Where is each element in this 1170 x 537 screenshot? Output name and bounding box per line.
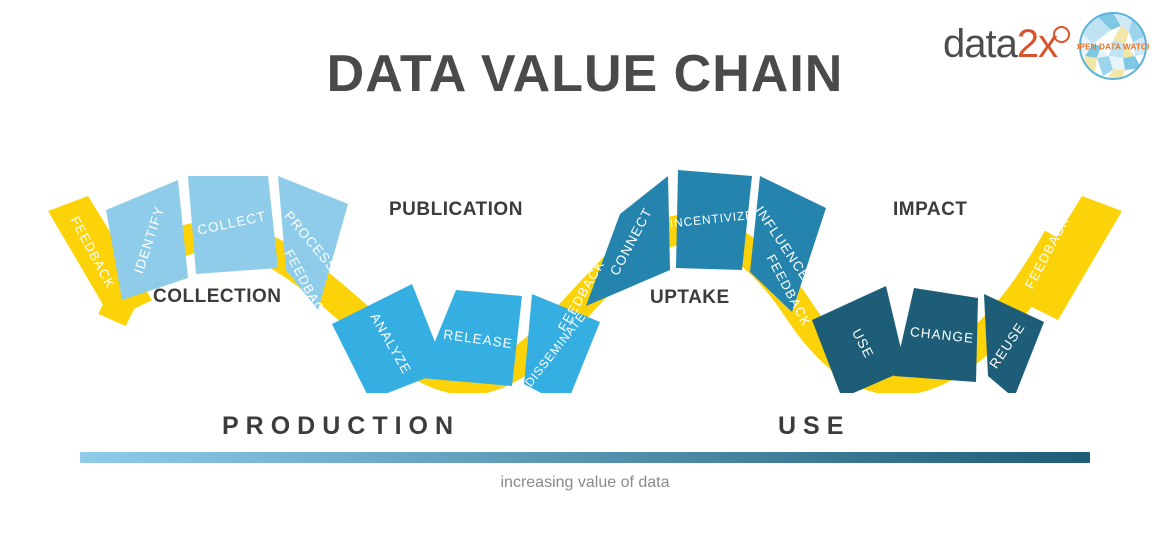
segment-change[interactable]: CHANGE [894,288,978,382]
phase-label-use: USE [778,412,850,441]
data2x-logo: data2x [943,24,1074,64]
segment-incentivize[interactable]: INCENTIVIZE [669,170,755,270]
value-caption: increasing value of data [0,474,1170,492]
segment-reuse[interactable]: REUSE [984,294,1044,393]
open-data-watch-logo: OPEN DATA WATCH [1077,10,1149,82]
data2x-logo-ring-icon [1053,26,1070,43]
phase-label-production: PRODUCTION [222,412,460,441]
data-value-chain-diagram: IDENTIFY COLLECT PROCESS ANALYZE RELEASE… [0,118,1170,393]
data2x-logo-main: data [943,22,1017,66]
group-publication: ANALYZE RELEASE DISSEMINATE [332,284,600,393]
data2x-logo-accent: 2x [1017,22,1057,66]
segment-release[interactable]: RELEASE [420,290,522,386]
open-data-watch-logo-text: OPEN DATA WATCH [1077,43,1149,52]
group-label-publication: PUBLICATION [389,199,523,221]
group-label-uptake: UPTAKE [650,287,730,309]
group-label-collection: COLLECTION [153,286,282,308]
segment-collect[interactable]: COLLECT [188,176,278,274]
group-label-impact: IMPACT [893,199,967,221]
value-gradient-bar [80,452,1090,463]
